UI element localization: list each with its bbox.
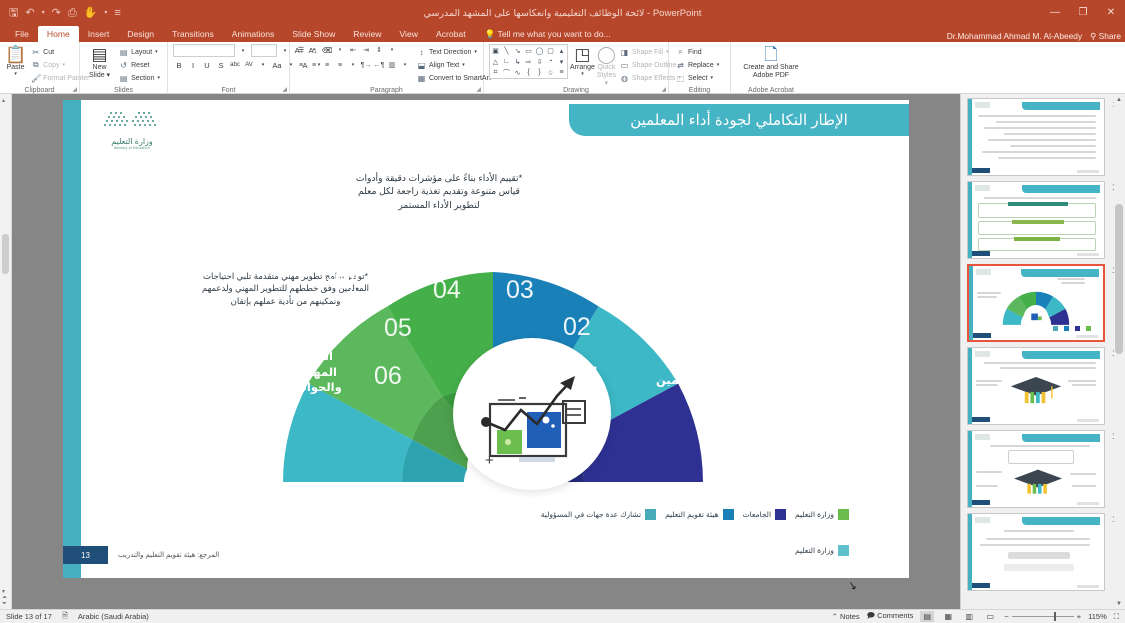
thumb-footer-text	[1077, 419, 1099, 422]
convert-smartart-label: Convert to SmartArt	[429, 75, 491, 82]
user-area[interactable]: Dr.Mohammad Ahmad M. Al-Abeedy ⚲ Share	[947, 31, 1121, 41]
wheel-label-01: إعداد المعلمين	[644, 358, 718, 389]
create-share-pdf-button[interactable]: 🗋 Create and Share Adobe PDF	[736, 44, 806, 80]
thumb-title-banner	[1022, 517, 1100, 525]
search-icon: ⌕	[676, 47, 685, 57]
acrobat-group-label: Adobe Acrobat	[731, 87, 811, 94]
columns-menu-icon[interactable]: ▾	[399, 59, 411, 71]
legend-label-1: الجامعات	[743, 510, 771, 519]
clipboard-dialog-launcher[interactable]: ◢	[72, 86, 77, 93]
thumb-title-banner	[1022, 434, 1100, 442]
shape-oval-icon[interactable]: ◯	[534, 45, 545, 56]
paste-icon: 📋	[5, 45, 26, 64]
thumb-footer-text	[1076, 335, 1098, 338]
bullets-dropdown-icon[interactable]: ▾	[308, 44, 320, 56]
layout-button[interactable]: ▤ Layout ▾	[117, 46, 162, 58]
ribbon: 📋 Paste ▾ ✂ Cut ⧉ Copy ▾ 🖌 Format Painte…	[0, 42, 1125, 94]
increase-indent-button[interactable]: ⇥	[360, 44, 372, 56]
ribbon-group-slides: ▤ New Slide ▾ ▤ Layout ▾ ↺ Reset ▤ Secti…	[80, 42, 168, 94]
legend-swatch-0	[838, 509, 849, 520]
tab-transitions[interactable]: Transitions	[163, 26, 223, 42]
slides-group-label: Slides	[80, 87, 167, 94]
character-spacing-dropdown-icon[interactable]: ▾	[257, 59, 269, 71]
slide-footer-number: 13	[63, 546, 108, 564]
accessibility-icon[interactable]: 🗎	[62, 610, 68, 623]
tell-me-label: Tell me what you want to do...	[498, 29, 611, 39]
thumb-graduation-cap-icon	[1008, 374, 1064, 408]
shape-elbow-icon[interactable]: ↳	[512, 56, 523, 67]
customize-qat-icon[interactable]: ▾	[104, 10, 107, 16]
arrange-dropdown-icon[interactable]: ▾	[581, 72, 584, 78]
quick-styles-button[interactable]: ◯ Quick Styles ▾	[597, 44, 616, 88]
font-name-input[interactable]	[173, 44, 235, 57]
thumb-logo	[975, 102, 990, 108]
justify-button[interactable]: ≡	[334, 59, 346, 71]
shape-outline-icon: ▭	[620, 61, 629, 70]
left-rail-scroll-thumb[interactable]	[2, 234, 9, 274]
replace-dropdown-icon[interactable]: ▾	[717, 62, 720, 68]
paste-button[interactable]: 📋 Paste ▾	[5, 44, 26, 78]
zoom-level-label[interactable]: 115%	[1088, 612, 1107, 621]
svg-text:+: +	[485, 452, 494, 469]
shape-triangle-icon[interactable]: △	[490, 56, 501, 67]
ribbon-group-paragraph: ☰ ▾ ≔ ▾ ⇤ ⇥ ⇕ ▾ ≡ ≡ ≡ ≡ ▾ ¶→ ←¶	[290, 42, 484, 94]
tab-slide-show[interactable]: Slide Show	[283, 26, 344, 42]
replace-icon: ⇄	[676, 61, 685, 70]
reading-view-button[interactable]: ▥	[962, 611, 976, 622]
shape-star-icon[interactable]: ☆	[545, 67, 556, 78]
copy-icon: ⧉	[31, 60, 40, 70]
shape-right-arrow-icon[interactable]: ⇨	[523, 56, 534, 67]
wheel-number-04: 04	[433, 276, 461, 305]
thumb-logo	[975, 517, 990, 523]
paste-dropdown-icon[interactable]: ▾	[14, 72, 17, 78]
thumb-footer-number	[972, 417, 990, 422]
font-size-input[interactable]	[251, 44, 277, 57]
find-button[interactable]: ⌕ Find	[674, 46, 721, 58]
slide-thumbnail-11[interactable]	[967, 98, 1105, 176]
rail-scroll-up-icon[interactable]: ▴	[2, 97, 5, 104]
restore-button[interactable]: ❐	[1069, 0, 1097, 26]
thumbnail-row-13[interactable]: 13	[967, 264, 1105, 342]
thumb-footer-number	[972, 500, 990, 505]
thumb-footer-number	[973, 333, 991, 338]
minimize-button[interactable]: —	[1041, 0, 1069, 26]
growth-chart-icon: +	[453, 338, 611, 490]
fit-to-window-button[interactable]: ⛶	[1114, 612, 1119, 622]
shape-pie-icon[interactable]: ◔	[545, 56, 556, 67]
slide-legend-secondary: وزارة التعليم	[795, 545, 849, 556]
thumb-footer-number	[972, 251, 990, 256]
wheel-diagram[interactable]: + إعداد المعلمين اختيار وترشيح المعلمين …	[278, 210, 708, 490]
wheel-number-06: 06	[374, 362, 402, 391]
numbering-button[interactable]: ≔	[321, 44, 333, 56]
rail-scroll-down-icon[interactable]: ▾	[2, 588, 5, 595]
clipboard-group-label: Clipboard	[0, 87, 79, 94]
columns-button[interactable]: ▥	[386, 59, 398, 71]
thumb-logo	[975, 434, 990, 440]
replace-button[interactable]: ⇄ Replace ▾	[674, 59, 721, 71]
slide-thumbnail-15[interactable]	[967, 430, 1105, 508]
zoom-in-button[interactable]: +	[1077, 612, 1081, 621]
zoom-slider[interactable]: − +	[1004, 612, 1081, 621]
thumb-accent-bar	[968, 348, 972, 424]
reset-icon: ↺	[119, 61, 128, 70]
thumbnail-row-15[interactable]: 15	[967, 430, 1105, 508]
align-text-dropdown-icon[interactable]: ▾	[462, 62, 465, 68]
comment-icon: 🗩	[867, 611, 875, 620]
logo-arabic-text: وزارة التعليم	[93, 137, 171, 146]
text-direction-icon: ↕	[417, 48, 426, 57]
thumb-title-banner	[1022, 351, 1100, 359]
shape-fill-label: Shape Fill	[632, 49, 663, 56]
workspace: ▴ ▾ ⏶ ⏷ الإطار التكاملي لجودة أداء المعل…	[0, 94, 1125, 609]
more-commands-icon[interactable]: ≡	[114, 8, 120, 19]
ministry-logo: وزارة التعليم Ministry of Education	[93, 110, 171, 150]
thumbnail-row-16[interactable]: 16	[967, 513, 1105, 591]
thumb-footer-text	[1077, 502, 1099, 505]
section-dropdown-icon[interactable]: ▾	[157, 75, 160, 81]
editing-group-label: Editing	[669, 87, 730, 94]
ribbon-group-editing: ⌕ Find ⇄ Replace ▾ ⬚ Select ▾ Editing	[669, 42, 731, 94]
drawing-group-label: Drawing	[484, 87, 668, 94]
wheel-label-03: ترخيص المعلمين	[527, 220, 601, 251]
slide-footer-text: المرجع: هيئة تقويم التعليم والتدريب	[118, 551, 219, 559]
text-direction-dropdown-icon[interactable]: ▾	[474, 49, 477, 55]
thumb-title-banner	[1022, 102, 1100, 110]
quick-access-toolbar[interactable]: 🖫 ↶ ▾ ↷ ⎙ ✋ ▾ ≡	[0, 8, 121, 19]
bold-button[interactable]: B	[173, 59, 185, 71]
ribbon-group-clipboard: 📋 Paste ▾ ✂ Cut ⧉ Copy ▾ 🖌 Format Painte…	[0, 42, 80, 94]
wheel-number-03: 03	[506, 276, 534, 305]
thumb-footer-text	[1077, 170, 1099, 173]
tab-view[interactable]: View	[390, 26, 426, 42]
undo-icon[interactable]: ↶	[25, 8, 34, 19]
new-slide-icon: ▤	[92, 45, 108, 64]
columns-dropdown-icon[interactable]: ▾	[347, 59, 359, 71]
reset-label: Reset	[131, 62, 149, 69]
rtl-direction-button[interactable]: ←¶	[373, 59, 385, 71]
wheel-label-02: اختيار وترشيح المعلمين	[619, 266, 693, 313]
select-icon: ⬚	[676, 74, 685, 83]
zoom-track[interactable]	[1012, 616, 1074, 617]
slide-sorter-view-button[interactable]: ▦	[941, 611, 955, 622]
section-button[interactable]: ▤ Section ▾	[117, 72, 162, 84]
select-button[interactable]: ⬚ Select ▾	[674, 72, 721, 84]
slide-title-text: الإطار التكاملي لجودة أداء المعلمين	[630, 111, 848, 129]
zoom-knob[interactable]	[1054, 612, 1056, 621]
thumbnail-scrollbar[interactable]: ▲ ▼	[1114, 94, 1124, 609]
notes-label: Notes	[840, 612, 860, 621]
shape-rectangle-icon[interactable]: ▭	[523, 45, 534, 56]
thumbnail-row-12[interactable]: 12	[967, 181, 1105, 259]
rail-next-slide-icon[interactable]: ⏷	[2, 601, 7, 608]
character-spacing-button[interactable]: AV	[243, 59, 255, 71]
shape-right-angle-icon[interactable]: ∟	[501, 56, 512, 67]
text-direction-label: Text Direction	[429, 49, 471, 56]
slide-thumbnail-pane[interactable]: 11 12	[960, 94, 1125, 609]
thumbnail-row-14[interactable]: 14	[967, 347, 1105, 425]
scrollbar-thumb[interactable]	[1115, 204, 1123, 354]
align-left-button[interactable]: ≡	[295, 59, 307, 71]
thumb-accent-bar	[968, 182, 972, 258]
shape-left-brace-icon[interactable]: {	[523, 67, 534, 78]
slide-thumbnail-12[interactable]	[967, 181, 1105, 259]
copy-dropdown-icon[interactable]: ▾	[63, 62, 66, 68]
wheel-label-04: تقييم الأداء	[394, 220, 468, 251]
thumb-footer-number	[972, 583, 990, 588]
thumb-logo	[975, 185, 990, 191]
legend-label-0: وزارة التعليم	[795, 510, 834, 519]
user-name: Dr.Mohammad Ahmad M. Al-Abeedy	[947, 31, 1082, 41]
strikethrough-button[interactable]: abc	[229, 59, 241, 71]
wheel-center-circle: +	[453, 338, 611, 490]
shadow-button[interactable]: S	[215, 59, 227, 71]
quick-styles-icon: ◯	[597, 45, 616, 64]
logo-english-text: Ministry of Education	[93, 146, 171, 150]
shape-curve-icon[interactable]: ⌒	[501, 67, 512, 78]
layout-dropdown-icon[interactable]: ▾	[155, 49, 158, 55]
title-bar: 🖫 ↶ ▾ ↷ ⎙ ✋ ▾ ≡ لائحة الوظائف التعليمية …	[0, 0, 1125, 26]
ltr-direction-button[interactable]: ¶→	[360, 59, 372, 71]
slide-canvas[interactable]: الإطار التكاملي لجودة أداء المعلمين	[63, 100, 909, 578]
undo-dropdown-icon[interactable]: ▾	[42, 10, 45, 16]
share-button[interactable]: ⚲ Share	[1090, 31, 1121, 41]
select-label: Select	[688, 75, 707, 82]
close-button[interactable]: ✕	[1097, 0, 1125, 26]
language-indicator[interactable]: Arabic (Saudi Arabia)	[78, 612, 149, 621]
slide-thumbnail-13[interactable]	[967, 264, 1105, 342]
slide-accent-bar	[63, 100, 81, 578]
shapes-scroll-down-icon[interactable]: ▾	[556, 56, 567, 67]
slide-show-view-button[interactable]: ▭	[983, 611, 997, 622]
legend-item-1: الجامعات	[743, 509, 786, 520]
thumb-footer-text	[1077, 253, 1099, 256]
thumb-accent-bar	[968, 514, 972, 590]
thumb-graduation-cap-icon	[1010, 467, 1066, 499]
new-slide-button[interactable]: ▤ New Slide ▾	[85, 44, 114, 80]
wheel-label-05: التطوير المهني	[300, 272, 374, 303]
tab-acrobat[interactable]: Acrobat	[427, 26, 475, 42]
slide-counter[interactable]: Slide 13 of 17	[6, 612, 52, 621]
shape-freeform-icon[interactable]: ⌗	[490, 67, 501, 78]
numbering-dropdown-icon[interactable]: ▾	[334, 44, 346, 56]
font-name-dropdown-icon[interactable]: ▾	[237, 45, 249, 57]
scissors-icon: ✂	[31, 48, 40, 57]
tab-home[interactable]: Home	[38, 26, 79, 42]
notes-button[interactable]: ⌃ Notes	[832, 612, 860, 621]
slide-legend: وزارة التعليم الجامعات هيئة تقويم التعلي…	[541, 509, 849, 520]
slide-thumbnail-14[interactable]	[967, 347, 1105, 425]
comments-label: Comments	[877, 611, 913, 620]
new-slide-label: New Slide ▾	[89, 64, 110, 80]
tab-design[interactable]: Design	[118, 26, 163, 42]
slide-footer: 13 المرجع: هيئة تقويم التعليم والتدريب	[63, 546, 219, 564]
tell-me-box[interactable]: 💡 Tell me what you want to do...	[475, 26, 611, 42]
align-text-label: Align Text	[429, 62, 459, 69]
legend-secondary-label: وزارة التعليم	[795, 546, 834, 555]
ribbon-group-font: ▾ ▾ A↑ A↓ ⌫ B I U S abc AV ▾ Aa ▾ A ▾ Fo…	[168, 42, 290, 94]
section-icon: ▤	[119, 74, 128, 83]
thumb-footer-number	[972, 168, 990, 173]
copy-label: Copy	[43, 62, 59, 69]
normal-view-button[interactable]: ▤	[920, 611, 934, 622]
align-text-icon: ⬓	[417, 61, 426, 70]
slide-thumbnail-16[interactable]	[967, 513, 1105, 591]
shape-rounded-rect-icon[interactable]: ▢	[545, 45, 556, 56]
share-label: Share	[1099, 31, 1121, 41]
slide-text-top[interactable]: *تقييم الأداء بناءً على مؤشرات دقيقة وأد…	[349, 172, 529, 212]
align-center-button[interactable]: ≡	[308, 59, 320, 71]
mouse-cursor: ↘	[847, 578, 859, 593]
logo-dot-pattern	[93, 110, 167, 132]
ribbon-group-drawing: ▣ ╲ ↘ ▭ ◯ ▢ ▴ △ ∟ ↳ ⇨ ⇩ ◔ ▾ ⌗ ⌒ ∿ { } ☆	[484, 42, 669, 94]
legend-item-3: تشارك عدة جهات في المسؤولية	[541, 509, 656, 520]
lightbulb-icon: 💡	[485, 29, 496, 39]
smartart-icon: ▦	[417, 74, 426, 83]
share-icon: ⚲	[1090, 31, 1096, 41]
quick-styles-label: Quick Styles ▾	[597, 64, 616, 88]
line-spacing-button[interactable]: ⇕	[373, 44, 385, 56]
tab-review[interactable]: Review	[344, 26, 390, 42]
select-dropdown-icon[interactable]: ▾	[710, 75, 713, 81]
change-case-button[interactable]: Aa	[271, 59, 283, 71]
arrange-button[interactable]: ◳ Arrange ▾	[570, 44, 595, 78]
replace-label: Replace	[688, 62, 714, 69]
thumb-accent-bar	[968, 99, 972, 175]
legend-swatch-1	[775, 509, 786, 520]
slide-title-banner[interactable]: الإطار التكاملي لجودة أداء المعلمين	[569, 104, 909, 136]
reset-button[interactable]: ↺ Reset	[117, 59, 162, 71]
touch-mode-icon[interactable]: ✋	[84, 8, 98, 19]
slide-stage: الإطار التكاملي لجودة أداء المعلمين	[12, 94, 960, 609]
cut-label: Cut	[43, 49, 54, 56]
font-group-label: Font	[168, 87, 289, 94]
decrease-indent-button[interactable]: ⇤	[347, 44, 359, 56]
shape-fill-icon: ◨	[620, 48, 629, 57]
drawing-dialog-launcher[interactable]: ◢	[661, 86, 666, 93]
window-controls[interactable]: — ❐ ✕	[1041, 0, 1125, 26]
left-rail[interactable]: ▴ ▾ ⏶ ⏷	[0, 94, 12, 609]
notes-icon: ⌃	[832, 612, 838, 621]
shape-scribble-icon[interactable]: ∿	[512, 67, 523, 78]
layout-label: Layout	[131, 49, 152, 56]
scroll-down-icon[interactable]: ▼	[1114, 598, 1124, 609]
shapes-scroll-up-icon[interactable]: ▴	[556, 45, 567, 56]
bullets-button[interactable]: ☰	[295, 44, 307, 56]
wheel-number-05: 05	[384, 314, 412, 343]
tab-insert[interactable]: Insert	[79, 26, 119, 42]
shape-textbox-icon[interactable]: ▣	[490, 45, 501, 56]
comments-button[interactable]: 🗩 Comments	[867, 610, 914, 623]
ribbon-group-acrobat: 🗋 Create and Share Adobe PDF Adobe Acrob…	[731, 42, 811, 94]
paintbrush-icon: 🖌	[31, 74, 40, 83]
font-dialog-launcher[interactable]: ◢	[282, 86, 287, 93]
thumbnail-row-11[interactable]: 11	[967, 98, 1105, 176]
shape-arrow-icon[interactable]: ↘	[512, 45, 523, 56]
legend-label-3: تشارك عدة جهات في المسؤولية	[541, 510, 641, 519]
adobe-pdf-icon: 🗋	[764, 45, 778, 64]
legend-item-0: وزارة التعليم	[795, 509, 849, 520]
legend-label-2: هيئة تقويم التعليم	[665, 510, 719, 519]
thumb-logo	[975, 351, 990, 357]
shape-right-brace-icon[interactable]: }	[534, 67, 545, 78]
line-spacing-dropdown-icon[interactable]: ▾	[386, 44, 398, 56]
create-share-pdf-label: Create and Share Adobe PDF	[743, 64, 798, 80]
tab-animations[interactable]: Animations	[223, 26, 284, 42]
status-bar: Slide 13 of 17 🗎 Arabic (Saudi Arabia) ⌃…	[0, 609, 1125, 623]
scroll-up-icon[interactable]: ▲	[1114, 94, 1124, 105]
find-label: Find	[688, 49, 702, 56]
legend-secondary-swatch	[838, 545, 849, 556]
underline-button[interactable]: U	[201, 59, 213, 71]
legend-swatch-2	[723, 509, 734, 520]
section-label: Section	[131, 75, 154, 82]
wheel-number-02: 02	[563, 313, 591, 342]
italic-button[interactable]: I	[187, 59, 199, 71]
legend-item-2: هيئة تقويم التعليم	[665, 509, 734, 520]
zoom-out-button[interactable]: −	[1004, 612, 1008, 621]
shape-down-arrow-icon[interactable]: ⇩	[534, 56, 545, 67]
redo-icon[interactable]: ↷	[52, 8, 61, 19]
layout-icon: ▤	[119, 48, 128, 57]
shape-line-icon[interactable]: ╲	[501, 45, 512, 56]
wheel-label-06: الرتب المهنية والحوافز	[280, 350, 354, 397]
wheel-number-01: 01	[574, 362, 602, 391]
shapes-more-icon[interactable]: ≡	[556, 67, 567, 78]
ribbon-tab-bar: File Home Insert Design Transitions Anim…	[0, 26, 1125, 42]
tab-file[interactable]: File	[6, 26, 38, 42]
paragraph-dialog-launcher[interactable]: ◢	[476, 86, 481, 93]
thumb-accent-bar	[968, 431, 972, 507]
legend-swatch-3	[645, 509, 656, 520]
start-presentation-icon[interactable]: ⎙	[68, 8, 77, 19]
shape-effects-icon: ◍	[620, 74, 629, 83]
thumb-footer-text	[1077, 585, 1099, 588]
shapes-gallery[interactable]: ▣ ╲ ↘ ▭ ◯ ▢ ▴ △ ∟ ↳ ⇨ ⇩ ◔ ▾ ⌗ ⌒ ∿ { } ☆	[489, 44, 568, 79]
window-title: لائحة الوظائف التعليمية وانعكاسها على ال…	[0, 8, 1125, 19]
save-icon[interactable]: 🖫	[9, 8, 18, 19]
thumb-title-banner	[1022, 185, 1100, 193]
paragraph-group-label: Paragraph	[290, 87, 483, 94]
align-right-button[interactable]: ≡	[321, 59, 333, 71]
arrange-icon: ◳	[574, 45, 590, 64]
